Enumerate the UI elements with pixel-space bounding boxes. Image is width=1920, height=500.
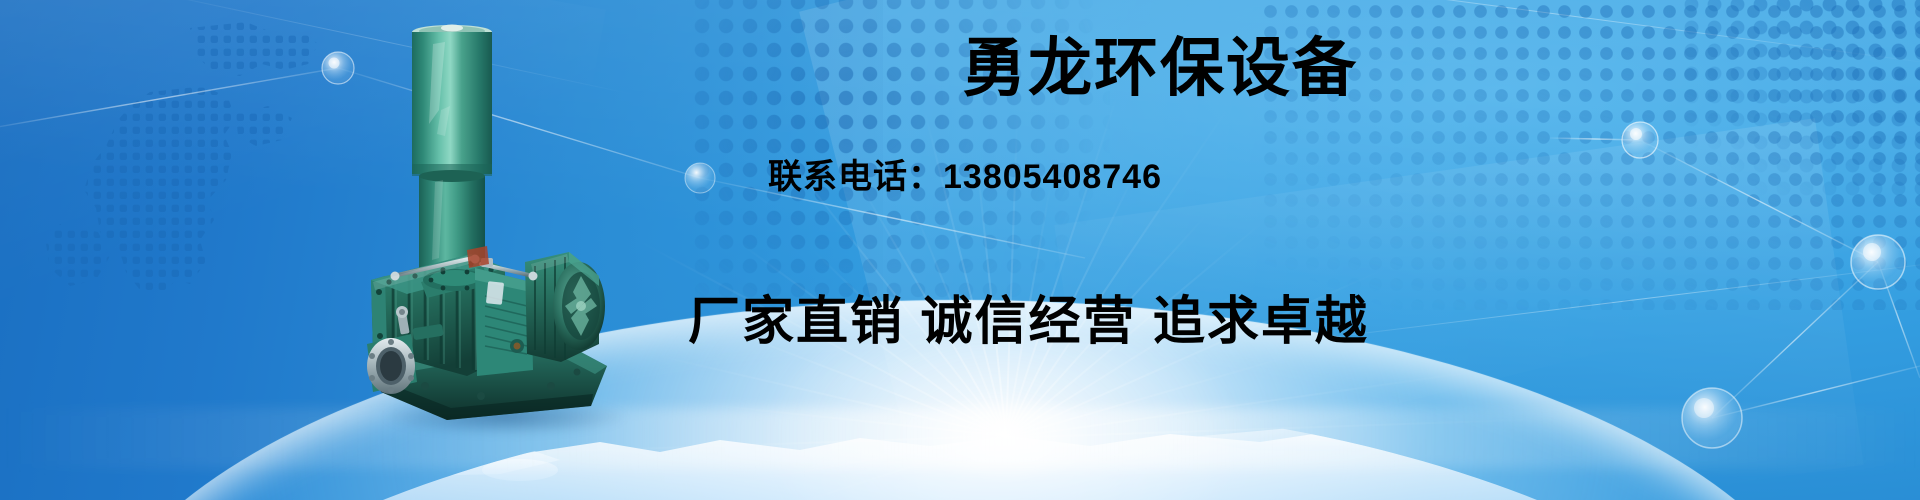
slogan-text: 厂家直销 诚信经营 追求卓越: [688, 296, 1369, 348]
page-title: 勇龙环保设备: [962, 36, 1358, 100]
halftone-dots-far-right: [1680, 0, 1920, 200]
company-banner: 勇龙环保设备 联系电话：13805408746 厂家直销 诚信经营 追求卓越: [0, 0, 1920, 500]
contact-phone-line: 联系电话：13805408746: [768, 160, 1162, 194]
roots-blower-product-image: [355, 14, 625, 434]
